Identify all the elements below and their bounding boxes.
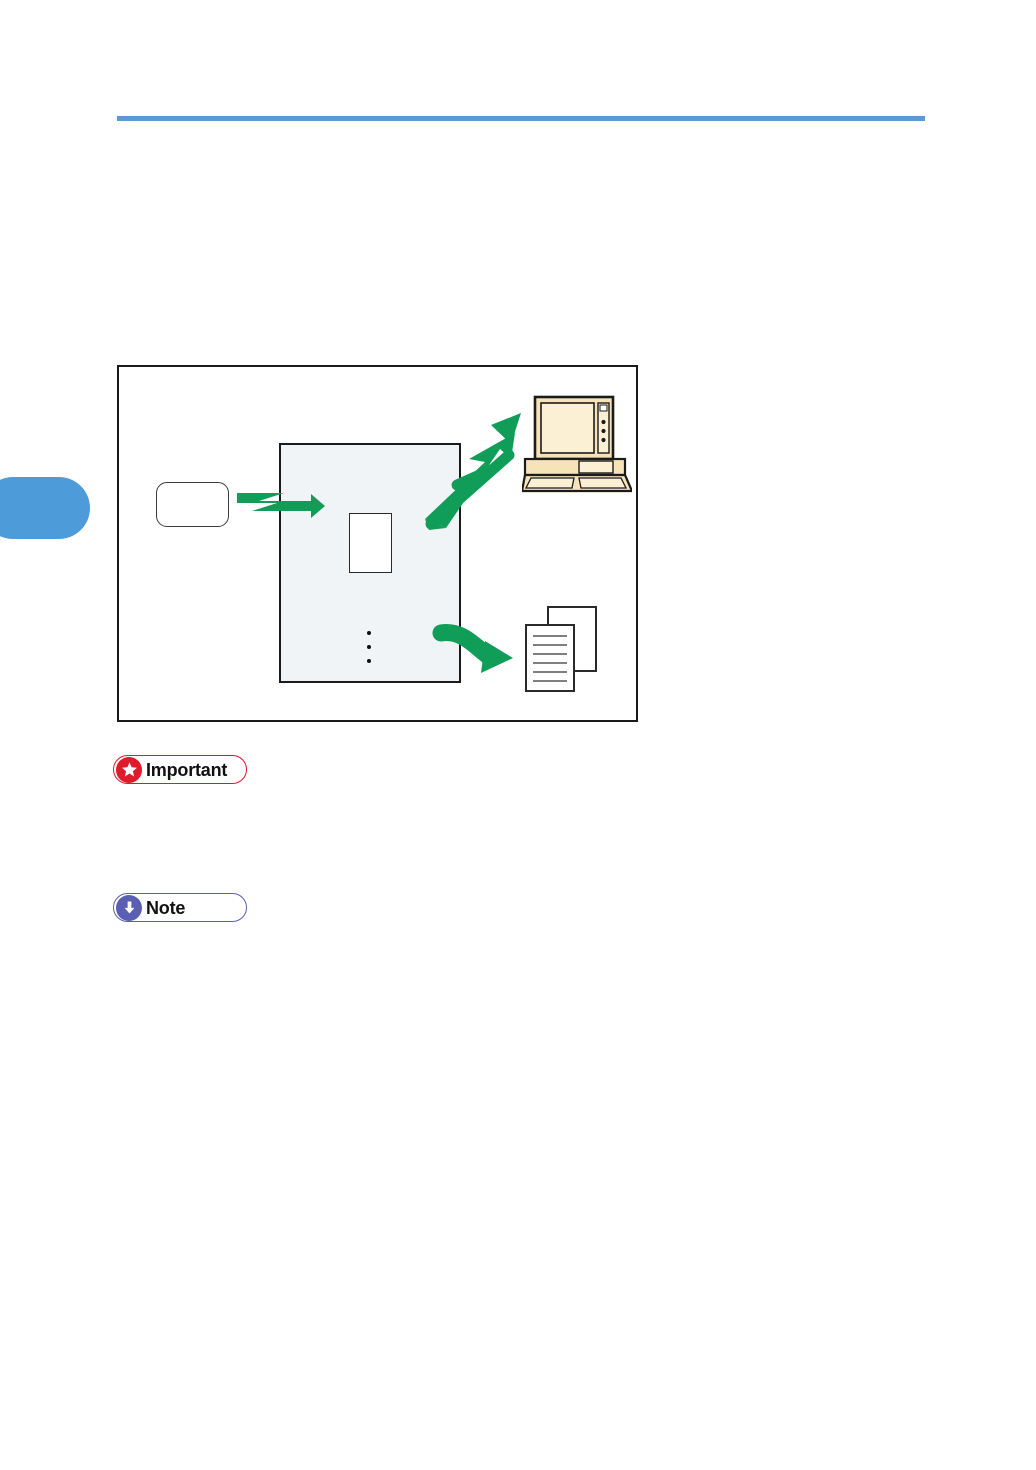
- section-badge-note: Note: [113, 893, 247, 922]
- arrow-down-icon: [116, 895, 142, 921]
- section-badge-important-label: Important: [146, 761, 227, 779]
- figure-inner: [119, 367, 636, 720]
- device-body: [279, 443, 461, 683]
- device-slot: [349, 513, 392, 573]
- device-dots-icon: [367, 631, 373, 667]
- star-icon: [116, 757, 142, 783]
- section-badge-note-label: Note: [146, 899, 185, 917]
- documents-icon: [518, 605, 610, 701]
- header-rule: [117, 116, 925, 121]
- figure-frame: [117, 365, 638, 722]
- computer-icon: [522, 395, 632, 495]
- section-badge-important: Important: [113, 755, 247, 784]
- source-originals-box: [156, 482, 229, 527]
- page-side-tab: [0, 477, 90, 539]
- page-canvas: Important Note: [0, 0, 1036, 1470]
